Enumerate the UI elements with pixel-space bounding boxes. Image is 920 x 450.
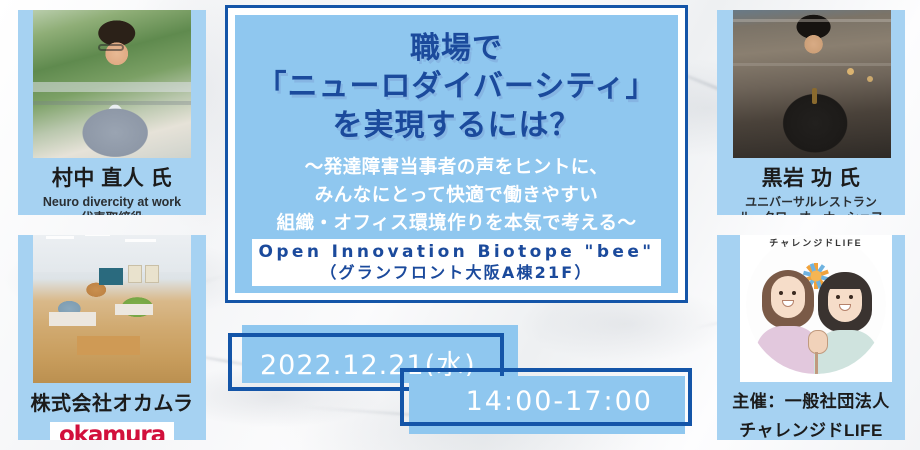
card-speaker-2: 黒岩 功 氏 ユニバーサルレストラン ル・クロ オーナーシェフ [717,10,905,215]
event-subtitle-line-2: みんなにとって快適で働きやすい [235,182,678,210]
event-time-badge: 14:00-17:00 [400,368,692,434]
card-organizer: チャレンジドLIFE 主催：一般社団法人 チャレンジドLIFE [717,235,905,440]
speaker-1-role: 代表取締役 [18,211,206,215]
event-title-line-1: 職場で [235,30,678,68]
main-panel-frame: 職場で 「ニューロダイバーシティ」 を実現するには？ 〜発達障害当事者の声をヒン… [225,5,688,303]
event-time-text: 14:00-17:00 [409,372,685,430]
sponsor-name: 株式会社オカムラ [18,387,206,416]
event-subtitle-line-3: 組織・オフィス環境作りを本気で考える〜 [235,210,678,238]
event-subtitle: 〜発達障害当事者の声をヒントに、 みんなにとって快適で働きやすい 組織・オフィス… [235,154,678,237]
organizer-line-1: 主催：一般社団法人 [717,387,905,412]
event-title-line-3: を実現するには？ [235,107,678,145]
event-title-line-2: 「ニューロダイバーシティ」 [235,68,678,106]
sponsor-caption: 株式会社オカムラ okamura [18,387,206,440]
event-subtitle-line-1: 〜発達障害当事者の声をヒントに、 [235,154,678,182]
card-sponsor: 株式会社オカムラ okamura [18,235,206,440]
speaker-1-name: 村中 直人 氏 [18,162,206,192]
organizer-logo-caption: チャレンジドLIFE [740,236,892,249]
organizer-line-2: チャレンジドLIFE [717,416,905,440]
venue-band: Open Innovation Biotope "bee" （グランフロント大阪… [252,239,661,286]
event-title: 職場で 「ニューロダイバーシティ」 を実現するには？ [235,15,678,145]
okamura-logo: okamura [50,422,174,440]
speaker-1-caption: 村中 直人 氏 Neuro divercity at work 代表取締役 [18,162,206,215]
card-speaker-1: 村中 直人 氏 Neuro divercity at work 代表取締役 [18,10,206,215]
speaker-2-caption: 黒岩 功 氏 ユニバーサルレストラン ル・クロ オーナーシェフ [717,162,905,215]
speaker-2-name: 黒岩 功 氏 [717,162,905,192]
organizer-caption: 主催：一般社団法人 チャレンジドLIFE [717,387,905,440]
poster-canvas: 村中 直人 氏 Neuro divercity at work 代表取締役 株式… [0,0,920,450]
venue-line-2: （グランフロント大阪A棟21F） [252,263,661,282]
sponsor-office-photo [33,235,191,383]
speaker-2-photo [733,10,891,158]
speaker-2-affiliation: ユニバーサルレストラン [717,195,905,210]
main-panel: 職場で 「ニューロダイバーシティ」 を実現するには？ 〜発達障害当事者の声をヒン… [235,15,678,293]
speaker-2-role: ル・クロ オーナーシェフ [717,210,905,215]
speaker-1-affiliation: Neuro divercity at work [18,195,206,211]
organizer-logo-photo: チャレンジドLIFE [740,235,892,382]
speaker-1-photo [33,10,191,158]
venue-line-1: Open Innovation Biotope "bee" [252,242,661,262]
